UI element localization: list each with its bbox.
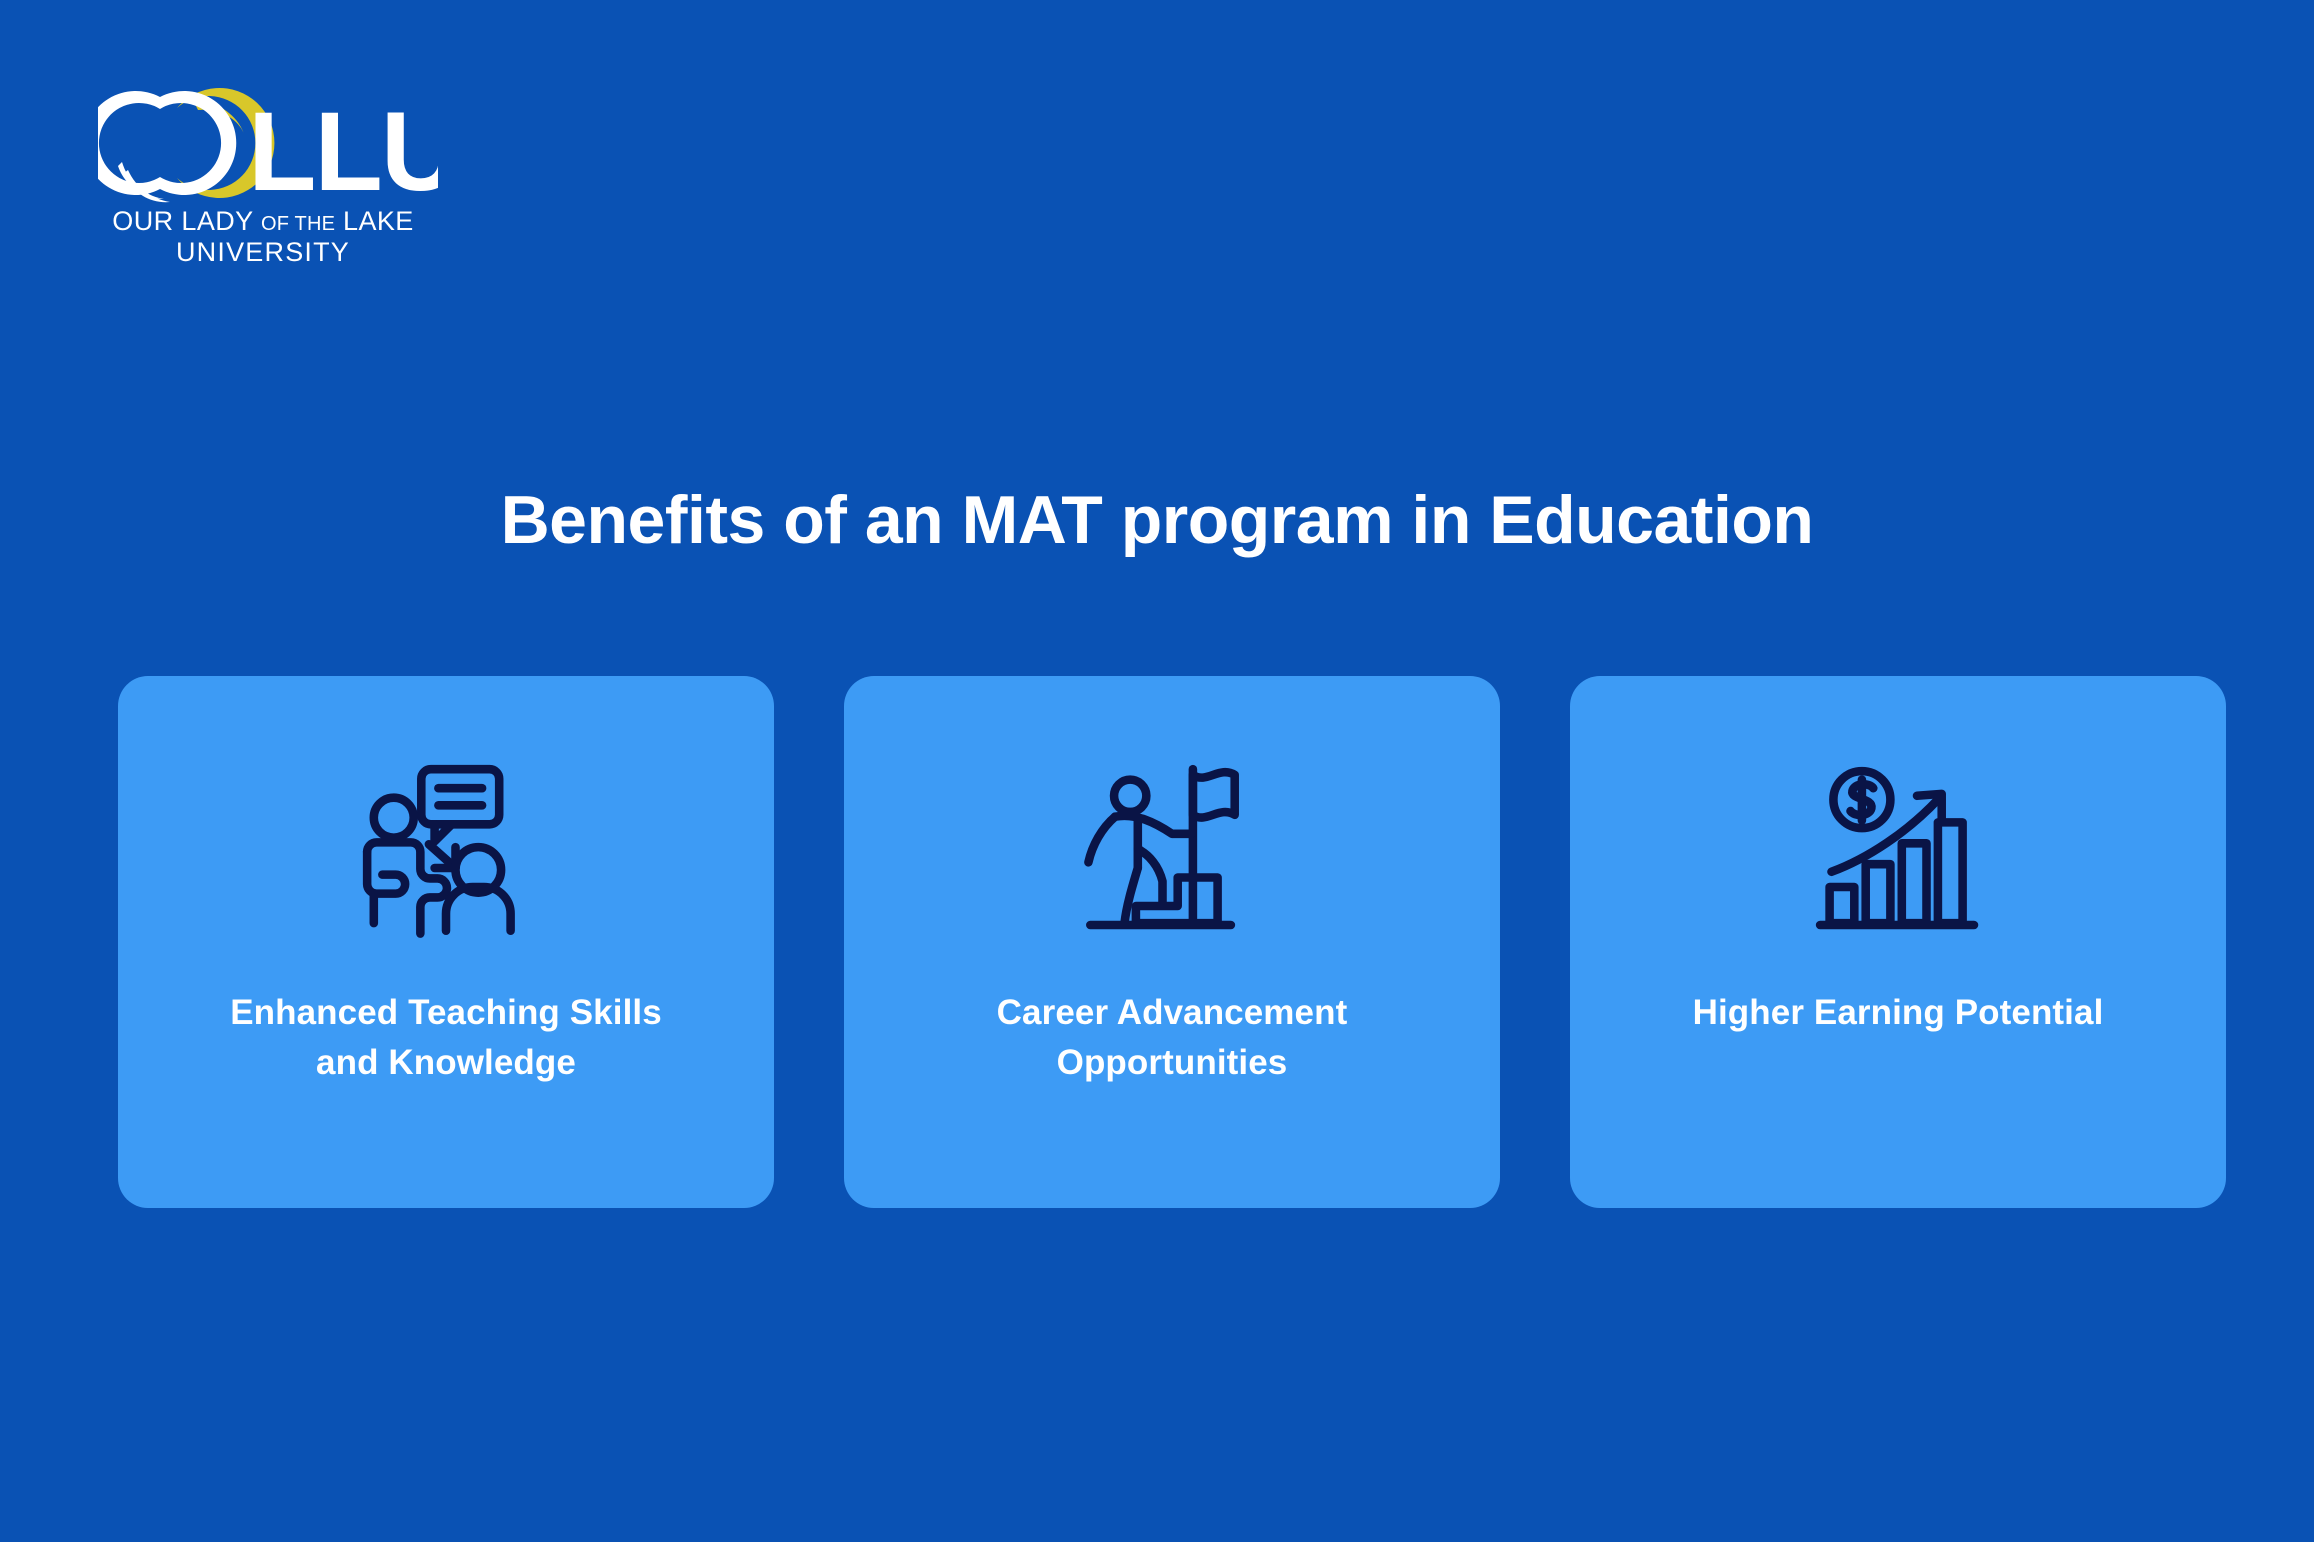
- benefit-card-label: Career Advancement Opportunities: [957, 988, 1388, 1087]
- benefit-card-label: Higher Earning Potential: [1653, 988, 2144, 1038]
- ollu-logo: LLU OUR LADY OF THE LAKE UNIVERSITY: [98, 78, 438, 278]
- teacher-speech-bubble-student-icon: [351, 754, 541, 944]
- benefit-card-earning-potential[interactable]: Higher Earning Potential: [1570, 676, 2226, 1208]
- svg-text:LLU: LLU: [248, 89, 438, 208]
- benefit-card-teaching-skills[interactable]: Enhanced Teaching Skills and Knowledge: [118, 676, 774, 1208]
- benefit-card-label: Enhanced Teaching Skills and Knowledge: [190, 988, 702, 1087]
- benefit-card-list: Enhanced Teaching Skills and Knowledge: [118, 676, 2226, 1208]
- logo-tagline-line1: OUR LADY OF THE LAKE: [98, 206, 428, 236]
- logo-tagline: OUR LADY OF THE LAKE UNIVERSITY: [98, 206, 428, 269]
- dollar-coin-growth-bar-chart-icon: [1803, 754, 1993, 944]
- benefit-card-career-advancement[interactable]: Career Advancement Opportunities: [844, 676, 1500, 1208]
- logo-tagline-line2: UNIVERSITY: [98, 236, 428, 268]
- infographic-page: LLU OUR LADY OF THE LAKE UNIVERSITY Bene…: [0, 0, 2314, 1542]
- page-title: Benefits of an MAT program in Education: [0, 483, 2314, 558]
- ollu-logo-mark: LLU: [98, 78, 438, 208]
- person-climbing-steps-to-flag-icon: [1077, 754, 1267, 944]
